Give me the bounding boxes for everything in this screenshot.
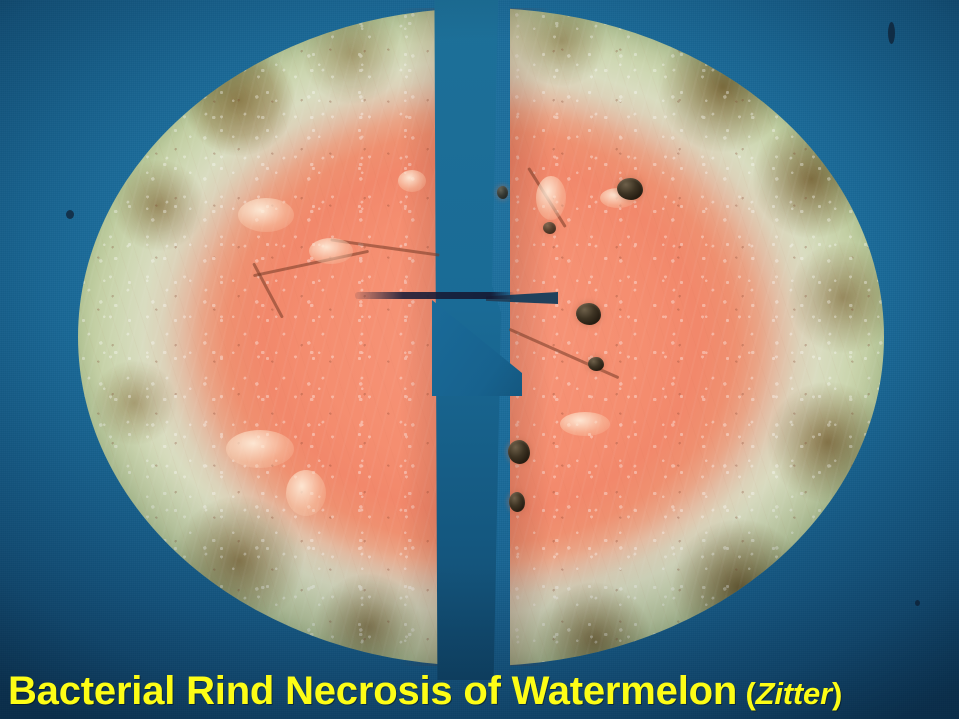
watermelon-right-half <box>510 8 884 666</box>
seed-mid-upper <box>543 222 556 234</box>
backdrop-fleck-left <box>66 210 74 219</box>
slide-canvas: Bacterial Rind Necrosis of Watermelon (Z… <box>0 0 959 719</box>
left-half-rind-necrosis <box>78 8 440 666</box>
caption-paren-open: ( <box>746 676 756 711</box>
seed-upper-right <box>617 178 643 200</box>
watermelon-left-half <box>78 8 440 666</box>
knife-cut-hairline <box>355 292 515 299</box>
seed-center <box>576 303 601 325</box>
caption-title: Bacterial Rind Necrosis of Watermelon <box>8 669 737 713</box>
seed-upper-left <box>497 186 508 199</box>
caption-paren-close: ) <box>832 676 842 711</box>
slide-caption: Bacterial Rind Necrosis of Watermelon (Z… <box>8 669 842 716</box>
caption-attribution: (Zitter) <box>737 676 842 711</box>
seed-lower <box>509 492 525 512</box>
seed-lower-upper <box>508 440 530 464</box>
backdrop-fleck-low <box>915 600 920 606</box>
seed-center-lower <box>588 357 604 371</box>
backdrop-fleck-right <box>888 22 895 44</box>
caption-attribution-name: Zitter <box>756 676 832 711</box>
right-half-rind-necrosis <box>510 8 884 666</box>
